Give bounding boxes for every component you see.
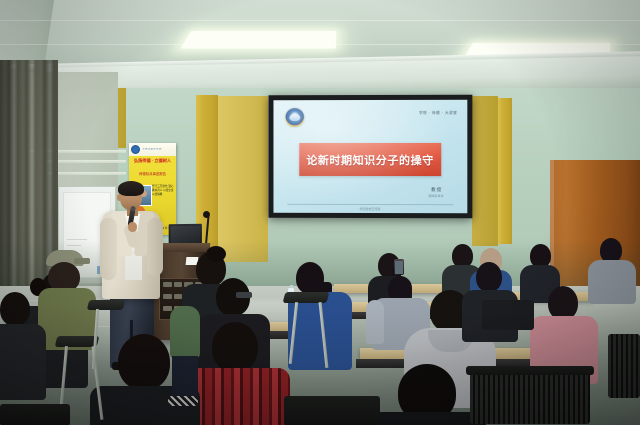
smartphone	[394, 259, 404, 275]
student-plaid-shirt	[186, 368, 290, 425]
speaker-arm	[147, 218, 163, 276]
chair-back[interactable]	[482, 300, 534, 330]
student-head	[476, 262, 502, 292]
student-hair-bun	[206, 246, 226, 262]
poster-header: 学院党委宣传部	[129, 143, 176, 156]
slide-footer-text: 学院党委宣传部	[273, 207, 467, 211]
student-head	[548, 286, 578, 320]
cap-brim-icon	[74, 258, 90, 264]
poster-body-text: 坚守三尺讲台 潜心教书育人 以德立身 以德施教	[152, 185, 174, 196]
tablet-arm-chair-desk[interactable]	[283, 292, 330, 303]
poster-title: 弘扬师德 · 立德树人	[131, 158, 174, 164]
slide-divider	[287, 204, 453, 205]
speaker-hand	[128, 222, 137, 232]
sneaker	[168, 396, 198, 406]
slide-title-banner: 论新时期知识分子的操守	[299, 143, 441, 176]
student-arm	[366, 300, 384, 344]
speaker-arm	[100, 218, 117, 280]
student-head	[0, 292, 30, 326]
student-torso	[0, 324, 46, 400]
student-head	[212, 322, 258, 372]
gooseneck-microphone-head	[203, 211, 210, 218]
ceiling-light-panel	[180, 31, 336, 48]
wall-accent-panel	[498, 98, 512, 244]
student-torso	[588, 260, 636, 304]
student-torso	[170, 306, 200, 358]
slide-date: 2013.5.9	[428, 194, 443, 198]
poster-header-text: 学院党委宣传部	[142, 148, 162, 151]
chair-back-rail	[466, 366, 594, 375]
student-head	[118, 334, 170, 390]
wall-accent-panel	[218, 96, 268, 262]
projection-screen: 学院 · 师德 · 大讲堂 论新时期知识分子的操守 教 授 2013.5.9 学…	[273, 100, 467, 213]
chair-back[interactable]	[284, 396, 380, 425]
projection-screen-frame: 学院 · 师德 · 大讲堂 论新时期知识分子的操守 教 授 2013.5.9 学…	[269, 95, 473, 219]
institution-seal-icon	[131, 145, 140, 154]
slide-presenter-name: 教 授	[431, 186, 441, 193]
lecture-hall-photo: 学院党委宣传部 弘扬师德 · 立德树人 师德标兵事迹报告 坚守三尺讲台 潜心教书…	[0, 0, 640, 425]
student-torso	[370, 412, 486, 425]
tablet-arm-chair-desk[interactable]	[87, 300, 125, 310]
slide-header-text: 学院 · 师德 · 大讲堂	[419, 111, 457, 116]
chair-back[interactable]	[608, 334, 640, 398]
speaker-ear	[117, 194, 122, 201]
speaker-hair	[118, 181, 144, 196]
slide-title-text: 论新时期知识分子的操守	[306, 151, 434, 167]
ceiling-seam	[0, 20, 640, 21]
eyeglasses-icon	[236, 292, 252, 298]
chair-back[interactable]	[470, 372, 590, 424]
poster-subtitle: 师德标兵事迹报告	[131, 172, 174, 176]
chair-back[interactable]	[0, 404, 70, 425]
wall-accent-panel	[472, 96, 498, 246]
university-emblem-icon	[285, 108, 304, 127]
